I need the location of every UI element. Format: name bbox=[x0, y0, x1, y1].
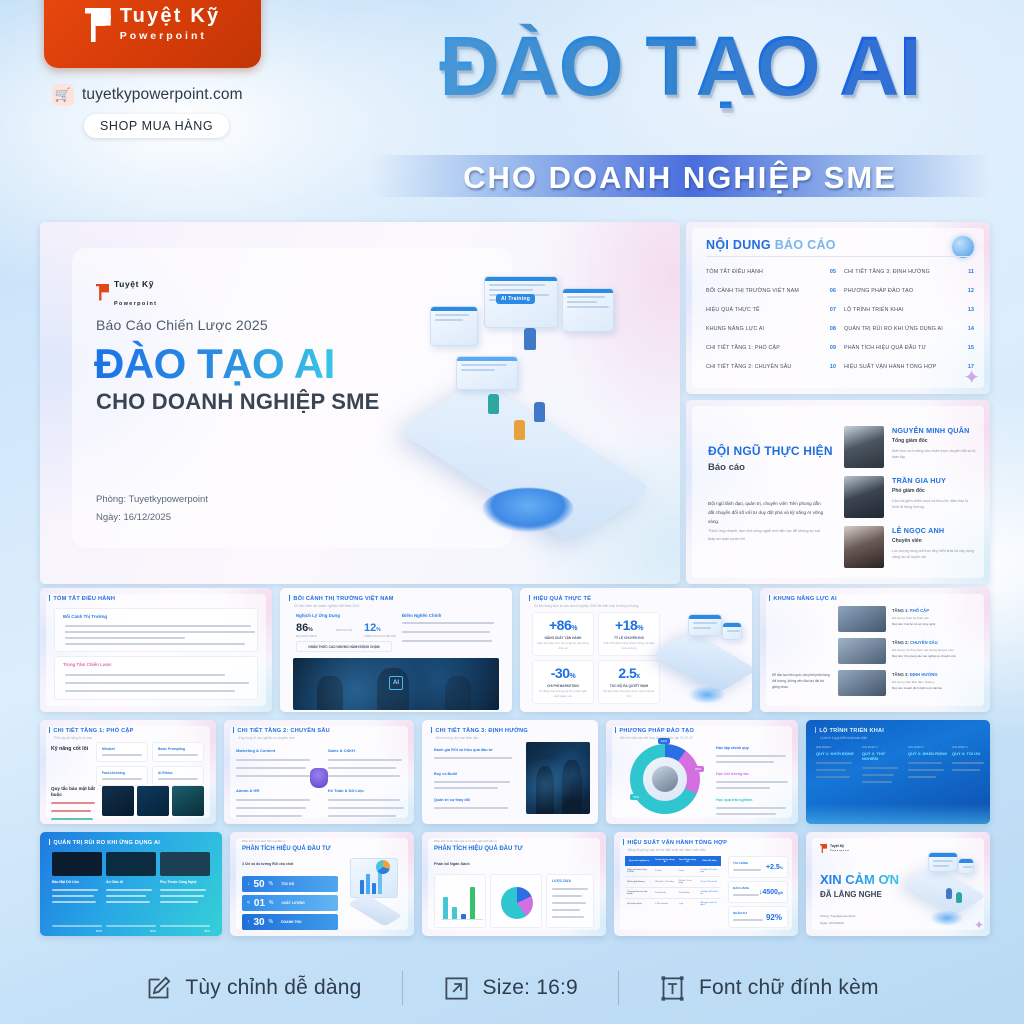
roi-label: DOANH THU bbox=[281, 920, 301, 924]
toc-item-label: CHI TIẾT TẦNG 3: ĐỊNH HƯỚNG bbox=[844, 269, 930, 275]
toc-item-label: HIỆU SUẤT VẬN HÀNH TỔNG HỢP bbox=[844, 364, 936, 370]
stat-unit: % bbox=[570, 673, 576, 680]
phase-name: QUÝ 1: KHỞI ĐỘNG bbox=[816, 751, 856, 756]
table-cell: Hiệu quả vượt trội gấp 5 bbox=[698, 899, 721, 910]
team-title: ĐỘI NGŨ THỰC HIỆN bbox=[708, 444, 833, 458]
classroom-photo-2 bbox=[838, 638, 886, 664]
tomtat-section-1: Bối Cảnh Thị Trường bbox=[54, 608, 258, 652]
member-role: Chuyên viên bbox=[892, 538, 976, 544]
table-header: Quy trình nghiệp vụ bbox=[625, 856, 653, 866]
ppdt-legend-item: Học tập chính quy bbox=[716, 746, 786, 763]
pencil-edit-icon bbox=[145, 975, 172, 1002]
thumb-title: HIỆU SUẤT VẬN HÀNH TỔNG HỢP bbox=[623, 839, 727, 846]
ai-badge: AI bbox=[389, 676, 403, 690]
brand-logo-text: Tuyệt Kỹ Powerpoint bbox=[120, 6, 221, 44]
thumb-title: KHUNG NĂNG LỰC AI bbox=[769, 595, 837, 602]
p-letter-mark-icon bbox=[820, 844, 827, 853]
slide-preview-tomtat[interactable]: TÓM TẮT ĐIỀU HÀNH Bối Cảnh Thị Trường Tr… bbox=[40, 588, 272, 712]
stat-desc: Dữ liệu được tổng hợp và trực quan hoá t… bbox=[599, 690, 659, 699]
dautu2-kicker: Phân tích chi tiết hiệu quả và cơ cấu ng… bbox=[434, 840, 497, 843]
toc-item-label: KHUNG NĂNG LỰC AI bbox=[706, 326, 764, 332]
risk-card: Ảo Giác AI 60% bbox=[106, 880, 156, 933]
khung-tier: TẦNG 3: ĐỊNH HƯỚNG Đối tượng: Ban lãnh đ… bbox=[892, 672, 942, 690]
toc-title-part1: NỘI DUNG bbox=[706, 238, 771, 252]
roi-row: ↓ 50 % TỐC ĐỘ bbox=[242, 876, 338, 892]
toc-item-number: 08 bbox=[830, 326, 836, 332]
dautu2-title: PHÂN TÍCH HIỆU QUẢ ĐẦU TƯ bbox=[434, 846, 523, 852]
toc-item[interactable]: CHI TIẾT TẦNG 3: ĐỊNH HƯỚNG11 bbox=[844, 262, 974, 281]
toc-item-label: LỘ TRÌNH TRIỂN KHAI bbox=[844, 307, 904, 313]
stat-unit: % bbox=[637, 625, 643, 632]
stat-label: CHI PHÍ MARKETING bbox=[547, 684, 579, 688]
tang3-block: Buy vs Build bbox=[434, 772, 510, 789]
toc-item[interactable]: LỘ TRÌNH TRIỂN KHAI13 bbox=[844, 300, 974, 319]
tier-name: CHUYÊN SÂU bbox=[910, 640, 938, 645]
slide-preview-hieusuat[interactable]: HIỆU SUẤT VẬN HÀNH TỔNG HỢP Bảng tổng hợ… bbox=[614, 832, 798, 936]
thankyou-title: XIN CẢM ƠN bbox=[820, 872, 899, 887]
slide-preview-tang2[interactable]: CHI TIẾT TẦNG 2: CHUYÊN SÂU Ứng dụng AI … bbox=[224, 720, 414, 824]
shopping-cart-icon: 🛒 bbox=[52, 84, 74, 106]
member-desc: Kiến trúc sư trưởng của chiến lược chuyể… bbox=[892, 448, 976, 461]
slide-preview-ppdt[interactable]: PHƯƠNG PHÁP ĐÀO TẠO Mô hình đào tạo kết … bbox=[606, 720, 798, 824]
avatar bbox=[844, 526, 884, 568]
risk-pct: 80% bbox=[52, 929, 102, 933]
shop-button[interactable]: SHOP MUA HÀNG bbox=[84, 114, 229, 138]
toc-item-label: PHƯƠNG PHÁP ĐÀO TẠO bbox=[844, 288, 913, 294]
thumb-title-text: LỘ TRÌNH TRIỂN KHAI bbox=[819, 728, 884, 734]
phase-block: GIAI ĐOẠN 3 QUÝ 3: NHÂN RỘNG bbox=[908, 746, 948, 778]
iso-person-1 bbox=[524, 328, 536, 350]
stat-desc: Giảm thời gian xử lý tác vụ lặp lại, giả… bbox=[533, 642, 593, 651]
toc-title-part2: BÁO CÁO bbox=[775, 238, 836, 252]
table-cell: 180 phút / 1 bài đăng bbox=[653, 877, 677, 888]
kpi-label: BÁN HÀNG bbox=[733, 886, 749, 890]
block-heading: Buy vs Build bbox=[434, 772, 510, 776]
avatar bbox=[844, 476, 884, 518]
footer-item-size: Size: 16:9 bbox=[403, 975, 618, 1002]
avatar bbox=[844, 426, 884, 468]
tomtat-section-2: Trọng Tâm Chiến Lược bbox=[54, 656, 258, 700]
tier-line-2: Mục tiêu: Ứng dụng sâu vào nghiệp vụ chu… bbox=[892, 654, 956, 658]
site-url-label: tuyetkypowerpoint.com bbox=[82, 86, 243, 104]
boicanh-bullets bbox=[402, 622, 498, 642]
iso-person-2 bbox=[488, 394, 499, 414]
thumb-title: CHI TIẾT TẦNG 1: PHỔ CẬP bbox=[49, 727, 134, 734]
rule-photo-3 bbox=[172, 786, 204, 816]
tier-line-1: Đối tượng: Toàn bộ nhân viên bbox=[892, 616, 935, 620]
kpi-unit: % bbox=[780, 866, 783, 870]
toc-item[interactable]: KHUNG NĂNG LỰC AI08 bbox=[706, 319, 836, 338]
slide-preview-tang3[interactable]: CHI TIẾT TẦNG 3: ĐỊNH HƯỚNG Định hướng c… bbox=[422, 720, 598, 824]
stat-label: TỶ LỆ CHUYỂN ĐỔI bbox=[614, 636, 644, 640]
risk-pct: 45% bbox=[160, 929, 210, 933]
toc-item-number: 05 bbox=[830, 269, 836, 275]
table-cell: Tiết kiệm 87% thời gian bbox=[698, 866, 721, 877]
phase-kicker: GIAI ĐOẠN 4 bbox=[952, 746, 986, 749]
boicanh-stat-1-caption: ĐÃ QUAN TÂM AI bbox=[296, 635, 317, 638]
kpi-value: 4500 bbox=[762, 889, 778, 896]
toc-item[interactable]: HIỆU SUẤT VẬN HÀNH TỔNG HỢP17 bbox=[844, 357, 974, 376]
skill-card: AI Ethics bbox=[152, 766, 204, 786]
tier-kicker: TẦNG 1: bbox=[892, 608, 909, 613]
slide-preview-dautu-2[interactable]: Phân tích chi tiết hiệu quả và cơ cấu ng… bbox=[422, 832, 606, 936]
dautu2-lead: Phân bổ Ngân Sách bbox=[434, 862, 470, 866]
thumb-subtitle: Số liệu trung bình từ các doanh nghiệp S… bbox=[534, 604, 638, 608]
roi-arrow: < bbox=[247, 900, 250, 906]
site-url-row[interactable]: 🛒 tuyetkypowerpoint.com bbox=[52, 84, 243, 106]
ppdt-legend-item: Học hỏi tương tác bbox=[716, 772, 788, 789]
table-cell: Chăm sóc khách hàng (CSKH) bbox=[625, 866, 653, 877]
lotrinh-footer-glow bbox=[806, 804, 990, 824]
table-cell: Tối ưu 75% tốc độ bbox=[698, 877, 721, 888]
stat-value: 2.5 bbox=[618, 665, 636, 681]
tang3-block: Quản trị sự thay đổi bbox=[434, 798, 508, 809]
bar-chart bbox=[434, 874, 486, 928]
roi-value: 50 bbox=[254, 879, 265, 890]
boicanh-stat-2: 12% bbox=[364, 622, 381, 634]
stat-label: TỐC ĐỘ RA QUYẾT ĐỊNH bbox=[610, 684, 648, 688]
thumb-title-text: HIỆU SUẤT VẬN HÀNH TỔNG HỢP bbox=[627, 840, 727, 846]
toc-item[interactable]: CHI TIẾT TẦNG 1: PHỔ CẬP09 bbox=[706, 338, 836, 357]
team-member[interactable]: LÊ NGỌC ANH Chuyên viên Lực lượng nòng c… bbox=[844, 526, 976, 568]
team-member[interactable]: TRẦN GIA HUY Phó giám đốc Cầu nối giữa c… bbox=[844, 476, 976, 518]
table-cell: Tổng hợp báo cáo kinh doanh bbox=[625, 888, 653, 899]
toc-item-number: 13 bbox=[968, 307, 974, 313]
table-cell: 1 giờ bbox=[677, 899, 699, 910]
stat-unit: x bbox=[636, 673, 639, 680]
footer-label: Size: 16:9 bbox=[483, 976, 578, 1000]
khung-tier: TẦNG 1: PHỔ CẬP Đối tượng: Toàn bộ nhân … bbox=[892, 608, 935, 626]
page-header: Tuyệt Kỹ Powerpoint 🛒 tuyetkypowerpoint.… bbox=[0, 0, 1024, 210]
page-title: ĐÀO TẠO AI bbox=[370, 24, 990, 108]
rule-photo-1 bbox=[102, 786, 134, 816]
toc-item-label: CHI TIẾT TẦNG 1: PHỔ CẬP bbox=[706, 345, 780, 351]
slide-preview-quantri[interactable]: QUẢN TRỊ RỦI RO KHI ỨNG DỤNG AI Bảo Mật … bbox=[40, 832, 222, 936]
cover-date: Ngày: 16/12/2025 bbox=[96, 512, 171, 523]
toc-item[interactable]: TÓM TẮT ĐIỀU HÀNH05 bbox=[706, 262, 836, 281]
roi-arrow: ↓ bbox=[247, 881, 250, 887]
phase-block: GIAI ĐOẠN 1 QUÝ 1: KHỞI ĐỘNG bbox=[816, 746, 856, 778]
thumb-title-text: BỐI CẢNH THỊ TRƯỜNG VIỆT NAM bbox=[293, 596, 393, 602]
footer-divider bbox=[618, 971, 619, 1005]
phase-block: GIAI ĐOẠN 2 QUÝ 2: THỬ NGHIỆM bbox=[862, 746, 902, 783]
table-row: Chăm sóc khách hàng (CSKH) 45 phút 6 phú… bbox=[625, 866, 721, 877]
boicanh-banner: NHẬN THỨC CAO NHƯNG HÀNH ĐỘNG CHẬM bbox=[296, 641, 392, 652]
text-frame-icon bbox=[659, 975, 686, 1002]
roi-row: ↑ 30 % DOANH THU bbox=[242, 914, 338, 930]
thumb-subtitle: Ứng dụng AI vào nghiệp vụ chuyên môn bbox=[238, 736, 295, 740]
logo-line-2: Powerpoint bbox=[830, 850, 850, 852]
robot-icon bbox=[310, 768, 328, 788]
thankyou-subtitle: ĐÃ LẮNG NGHE bbox=[820, 890, 882, 899]
slide-preview-tang1[interactable]: CHI TIẾT TẦNG 1: PHỔ CẬP Phổ cập kỹ năng… bbox=[40, 720, 216, 824]
toc-item[interactable]: QUẢN TRỊ RỦI RO KHI ỨNG DỤNG AI14 bbox=[844, 319, 974, 338]
sparkle-icon: ✦ bbox=[974, 918, 984, 932]
roi-unit: % bbox=[269, 881, 273, 887]
toc-item-number: 06 bbox=[830, 288, 836, 294]
table-header-row: Quy trình nghiệp vụ Trước khi áp dụng AI… bbox=[625, 856, 721, 866]
member-desc: Cầu nối giữa chiến lược và thực thi, đảm… bbox=[892, 498, 976, 511]
toc-item-number: 11 bbox=[968, 269, 974, 275]
table-row: Nội dung Marketing 180 phút / 1 bài đăng… bbox=[625, 877, 721, 888]
slide-preview-lotrinh[interactable]: LỘ TRÌNH TRIỂN KHAI Lộ trình 4 quý triển… bbox=[806, 720, 990, 824]
table-cell: Vận hành nội bộ bbox=[625, 899, 653, 910]
group-heading: Admin & HR bbox=[236, 788, 310, 793]
member-name: LÊ NGỌC ANH bbox=[892, 526, 976, 535]
tang3-block: Đánh giá ROI và hiệu quả đầu tư bbox=[434, 748, 512, 759]
group-heading: Sales & CSKH bbox=[328, 748, 402, 753]
brand-line-1: Tuyệt Kỹ bbox=[120, 5, 221, 27]
phase-kicker: GIAI ĐOẠN 1 bbox=[816, 746, 856, 749]
thumb-subtitle: Lộ trình 4 quý triển khai toàn diện bbox=[820, 736, 867, 740]
resize-arrow-icon bbox=[443, 975, 470, 1002]
toc-item-number: 09 bbox=[830, 345, 836, 351]
tang2-group: Kế Toán & Dữ Liệu bbox=[328, 788, 404, 817]
stat-value: +18 bbox=[615, 617, 637, 633]
table-cell: Tiết kiệm 83% nhân lực bbox=[698, 888, 721, 899]
table-cell: 2.300 giờ/năm bbox=[653, 899, 677, 910]
toc-column-left: TÓM TẮT ĐIỀU HÀNH05 BỐI CẢNH THỊ TRƯỜNG … bbox=[706, 262, 836, 376]
footer-label: Font chữ đính kèm bbox=[699, 976, 879, 1000]
kpi-label: NHÂN SỰ bbox=[733, 911, 747, 915]
member-name: NGUYỄN MINH QUÂN bbox=[892, 426, 976, 435]
phase-kicker: GIAI ĐOẠN 2 bbox=[862, 746, 902, 749]
tang2-group: Marketing & Content bbox=[236, 748, 312, 777]
slide-preview-dautu-1[interactable]: Phân tích và so sánh hiệu quả đầu tư PHÂ… bbox=[230, 832, 414, 936]
legend-heading: LƯỢC-DỰA bbox=[547, 875, 593, 883]
toc-column-right: CHI TIẾT TẦNG 3: ĐỊNH HƯỚNG11 PHƯƠNG PHÁ… bbox=[844, 262, 974, 376]
thumb-title-text: QUẢN TRỊ RỦI RO KHI ỨNG DỤNG AI bbox=[53, 840, 160, 846]
boicanh-col1-head: Nghịch Lý Ứng Dụng bbox=[296, 613, 340, 618]
table-cell: Nội dung Marketing bbox=[625, 877, 653, 888]
thankyou-logo: Tuyệt KỹPowerpoint bbox=[820, 844, 850, 853]
boicanh-stat-mid: NHƯNG CHỈ bbox=[336, 628, 352, 632]
tang3-photo bbox=[526, 742, 590, 814]
tier-line-2: Mục tiêu: Xoá bỏ nỗi sợ công nghệ bbox=[892, 622, 935, 626]
kpi-value: 92% bbox=[766, 913, 782, 922]
thumb-subtitle: Mô hình đào tạo kết hợp đa kênh hiện đại… bbox=[620, 736, 693, 740]
slide-preview-cover[interactable]: Tuyệt Kỹ Powerpoint Báo Cáo Chiến Lược 2… bbox=[40, 222, 680, 584]
iso-screen-left bbox=[430, 306, 478, 346]
cover-logo: Tuyệt Kỹ Powerpoint bbox=[96, 274, 157, 310]
iso-ai-badge: AI Training bbox=[496, 294, 535, 304]
toc-item[interactable]: CHI TIẾT TẦNG 2: CHUYÊN SÂU10 bbox=[706, 357, 836, 376]
stat-value: -30 bbox=[551, 665, 570, 681]
tang1-rules-title: Quy tắc bảo mật bắt buộc bbox=[51, 786, 95, 799]
toc-title: NỘI DUNG BÁO CÁO bbox=[706, 238, 836, 252]
table-header: Sau khi áp dụng AI bbox=[677, 856, 699, 866]
toc-item-number: 07 bbox=[830, 307, 836, 313]
toc-item[interactable]: BỐI CẢNH THỊ TRƯỜNG VIỆT NAM06 bbox=[706, 281, 836, 300]
thumb-subtitle: Định hướng cho ban lãnh đạo bbox=[436, 736, 478, 740]
kpi-card: NHÂN SỰ 92% bbox=[728, 906, 788, 928]
section-heading: Bối Cảnh Thị Trường bbox=[63, 614, 107, 619]
block-heading: Đánh giá ROI và hiệu quả đầu tư bbox=[434, 748, 512, 752]
classroom-photo-1 bbox=[838, 606, 886, 632]
roi-label: CHẤT LƯỢNG bbox=[282, 901, 305, 905]
brand-logo[interactable]: Tuyệt Kỹ Powerpoint bbox=[44, 0, 261, 68]
skill-card-label: Basic Prompting bbox=[153, 743, 203, 751]
thumb-title: CHI TIẾT TẦNG 2: CHUYÊN SÂU bbox=[233, 727, 330, 734]
iso-person-3 bbox=[534, 402, 545, 422]
legend-label: Học qua trải nghiệm bbox=[716, 798, 786, 802]
slide-preview-hieuqua[interactable]: HIỆU QUẢ THỰC TẾ Số liệu trung bình từ c… bbox=[520, 588, 752, 712]
tang1-lead: Kỹ năng cốt lõi bbox=[51, 746, 88, 752]
cover-room: Phòng: Tuyetkypowerpoint bbox=[96, 494, 208, 505]
donut-label: 10% bbox=[658, 738, 670, 744]
team-member[interactable]: NGUYỄN MINH QUÂN Tổng giám đốc Kiến trúc… bbox=[844, 426, 976, 468]
roi-value: 30 bbox=[254, 917, 265, 928]
thumb-title: PHƯƠNG PHÁP ĐÀO TẠO bbox=[615, 727, 694, 734]
rule-photo-2 bbox=[137, 786, 169, 816]
skill-card: Mindset bbox=[96, 742, 148, 762]
thumb-title: LỘ TRÌNH TRIỂN KHAI bbox=[815, 727, 884, 734]
thumb-subtitle: Phổ cập kỹ năng AI cơ bản bbox=[54, 736, 92, 740]
thumb-title-text: HIỆU QUẢ THỰC TẾ bbox=[533, 596, 591, 602]
khung-note: Để đào tạo hiệu quả, cần phải phân tầng … bbox=[772, 672, 830, 690]
thankyou-date: Ngày: 16/12/2025 bbox=[820, 921, 844, 925]
table-cell: 15 phút/tuần bbox=[677, 888, 699, 899]
dependency-photo bbox=[160, 852, 210, 876]
tier-line-1: Đối tượng: Ban lãnh đạo / Quản lý bbox=[892, 680, 942, 684]
tier-name: ĐỊNH HƯỚNG bbox=[910, 672, 938, 677]
p-letter-mark-icon bbox=[96, 284, 109, 301]
skill-card-label: AI Ethics bbox=[153, 767, 203, 775]
donut-chart bbox=[630, 744, 700, 814]
footer-item-font: Font chữ đính kèm bbox=[619, 975, 919, 1002]
thumb-title-text: TÓM TẮT ĐIỀU HÀNH bbox=[53, 596, 115, 602]
risk-card: Phụ Thuộc Công Nghệ 45% bbox=[160, 880, 210, 933]
thumb-subtitle: Bảng tổng hợp các chỉ số hiệu suất vận h… bbox=[628, 848, 706, 852]
member-name: TRẦN GIA HUY bbox=[892, 476, 976, 485]
roi-unit: % bbox=[269, 919, 273, 925]
globe-icon bbox=[952, 236, 974, 258]
toc-item-number: 12 bbox=[968, 288, 974, 294]
tier-line-1: Đối tượng: Trưởng nhóm các phòng Chuyên … bbox=[892, 648, 956, 652]
tang2-group: Sales & CSKH bbox=[328, 748, 402, 777]
hieusuat-table: Quy trình nghiệp vụ Trước khi áp dụng AI… bbox=[625, 856, 721, 909]
footer-divider bbox=[402, 971, 403, 1005]
stat-card: 2.5x TỐC ĐỘ RA QUYẾT ĐỊNH Dữ liệu được t… bbox=[598, 660, 660, 704]
cover-illustration: AI Training bbox=[396, 270, 666, 550]
table-header: Trước khi áp dụng AI bbox=[653, 856, 677, 866]
footer-item-customize: Tùy chỉnh dễ dàng bbox=[105, 975, 401, 1002]
logo-line-1: Tuyệt Kỹ bbox=[830, 844, 844, 848]
skill-card-label: Mindset bbox=[97, 743, 147, 751]
member-role: Tổng giám đốc bbox=[892, 438, 976, 444]
thumb-title: QUẢN TRỊ RỦI RO KHI ỨNG DỤNG AI bbox=[49, 839, 160, 846]
classroom-photo-3 bbox=[838, 670, 886, 696]
phase-name: QUÝ 3: NHÂN RỘNG bbox=[908, 751, 948, 756]
sparkle-icon: ✦ bbox=[963, 365, 980, 390]
tang1-rules bbox=[51, 802, 97, 820]
stat-unit: % bbox=[571, 625, 577, 632]
stat-label: NĂNG SUẤT VẬN HÀNH bbox=[545, 636, 582, 640]
stat-card: +18% TỶ LỆ CHUYỂN ĐỔI Phản hồi khách hàn… bbox=[598, 612, 660, 656]
toc-item[interactable]: PHƯƠNG PHÁP ĐÀO TẠO12 bbox=[844, 281, 974, 300]
table-row: Vận hành nội bộ 2.300 giờ/năm 1 giờ Hiệu… bbox=[625, 899, 721, 910]
slide-preview-team[interactable]: ĐỘI NGŨ THỰC HIỆN Báo cáo Đội ngũ lãnh đ… bbox=[686, 400, 990, 584]
cover-subtitle: CHO DOANH NGHIỆP SME bbox=[96, 389, 380, 415]
risk-head: Bảo Mật Dữ Liệu bbox=[52, 880, 102, 884]
phase-kicker: GIAI ĐOẠN 3 bbox=[908, 746, 948, 749]
cover-logo-line-2: Powerpoint bbox=[114, 301, 157, 307]
slide-preview-toc[interactable]: NỘI DUNG BÁO CÁO TÓM TẮT ĐIỀU HÀNH05 BỐI… bbox=[686, 222, 990, 394]
ai-hallucination-photo bbox=[106, 852, 156, 876]
iso-glow-ring bbox=[482, 488, 574, 532]
kpi-unit: giờ bbox=[778, 891, 783, 895]
toc-item-number: 14 bbox=[968, 326, 974, 332]
khung-tier: TẦNG 2: CHUYÊN SÂU Đối tượng: Trưởng nhó… bbox=[892, 640, 956, 658]
group-heading: Kế Toán & Dữ Liệu bbox=[328, 788, 404, 793]
thumb-title: CHI TIẾT TẦNG 3: ĐỊNH HƯỚNG bbox=[431, 727, 528, 734]
phase-block: GIAI ĐOẠN 4 QUÝ 4: TỐI ƯU bbox=[952, 746, 986, 771]
toc-divider bbox=[706, 256, 970, 257]
page-footer: Tùy chỉnh dễ dàng Size: 16:9 Font chữ đí… bbox=[0, 952, 1024, 1024]
tier-line-2: Mục tiêu: Hoạch định chiến lược dài hạn bbox=[892, 686, 942, 690]
kpi-label: TÀI CHÍNH bbox=[733, 861, 748, 865]
cover-kicker: Báo Cáo Chiến Lược 2025 bbox=[96, 317, 268, 333]
toc-item-label: QUẢN TRỊ RỦI RO KHI ỨNG DỤNG AI bbox=[844, 326, 943, 332]
thumb-title: TÓM TẮT ĐIỀU HÀNH bbox=[49, 595, 115, 602]
slide-preview-boicanh[interactable]: BỐI CẢNH THỊ TRƯỜNG VIỆT NAM Dữ liệu khả… bbox=[280, 588, 512, 712]
legend-label: Học tập chính quy bbox=[716, 746, 786, 750]
thumb-title-text: CHI TIẾT TẦNG 3: ĐỊNH HƯỚNG bbox=[435, 728, 528, 734]
block-heading: Quản trị sự thay đổi bbox=[434, 798, 508, 802]
kpi-value: +2.5 bbox=[766, 864, 780, 871]
thumb-title-text: KHUNG NĂNG LỰC AI bbox=[773, 596, 836, 602]
tier-name: PHỔ CẬP bbox=[910, 608, 929, 613]
donut-label: 70% bbox=[630, 794, 642, 800]
boicanh-photo: AI bbox=[293, 658, 499, 710]
toc-item[interactable]: HIỆU QUẢ THỰC TẾ07 bbox=[706, 300, 836, 319]
toc-item[interactable]: PHÂN TÍCH HIỆU QUẢ ĐẦU TƯ15 bbox=[844, 338, 974, 357]
donut-label: 20% bbox=[692, 766, 704, 772]
thumb-title: BỐI CẢNH THỊ TRƯỜNG VIỆT NAM bbox=[289, 595, 394, 602]
dautu1-kicker: Phân tích và so sánh hiệu quả đầu tư bbox=[242, 840, 285, 843]
slide-preview-thankyou[interactable]: Tuyệt KỹPowerpoint XIN CẢM ƠN ĐÃ LẮNG NG… bbox=[806, 832, 990, 936]
legend-label: Học hỏi tương tác bbox=[716, 772, 788, 776]
risk-head: Phụ Thuộc Công Nghệ bbox=[160, 880, 210, 884]
table-cell: 6 phút bbox=[677, 866, 699, 877]
skill-card: Basic Prompting bbox=[152, 742, 204, 762]
roi-row: < 01 % CHẤT LƯỢNG bbox=[242, 895, 338, 911]
skill-card-label: Fact-checking bbox=[97, 767, 147, 775]
team-body-text: Đội ngũ lãnh đạo, quản trị, chuyên viên … bbox=[708, 500, 828, 527]
roi-value: 01 bbox=[254, 898, 265, 909]
thumb-title-text: PHƯƠNG PHÁP ĐÀO TẠO bbox=[619, 728, 694, 734]
toc-item-number: 10 bbox=[830, 364, 836, 370]
skill-card: Fact-checking bbox=[96, 766, 148, 786]
thumb-subtitle: Dữ liệu khảo sát doanh nghiệp Việt Nam 2… bbox=[294, 604, 359, 608]
stat-card: -30% CHI PHÍ MARKETING Tự động hoá nội d… bbox=[532, 660, 594, 704]
p-letter-mark-icon bbox=[85, 8, 111, 42]
security-photo bbox=[52, 852, 102, 876]
table-cell: 45 phút bbox=[653, 866, 677, 877]
dautu1-illustration bbox=[342, 854, 408, 930]
table-cell: 45 phút / 1 bài đăng bbox=[677, 877, 699, 888]
pie-chart-card bbox=[490, 874, 542, 928]
ppdt-legend-item: Học qua trải nghiệm bbox=[716, 798, 786, 815]
toc-item-label: TÓM TẮT ĐIỀU HÀNH bbox=[706, 269, 763, 275]
cover-logo-line-1: Tuyệt Kỹ bbox=[114, 279, 154, 289]
kpi-card: BÁN HÀNG ↓4500giờ bbox=[728, 881, 788, 903]
thankyou-illustration bbox=[906, 846, 986, 928]
thankyou-room: Phòng: Tuyetkypowerpoint bbox=[820, 914, 855, 918]
cover-title: ĐÀO TẠO AI bbox=[94, 340, 335, 388]
section-heading: Trọng Tâm Chiến Lược bbox=[63, 662, 112, 667]
slide-preview-khung[interactable]: KHUNG NĂNG LỰC AI Để đào tạo hiệu quả, c… bbox=[760, 588, 990, 712]
